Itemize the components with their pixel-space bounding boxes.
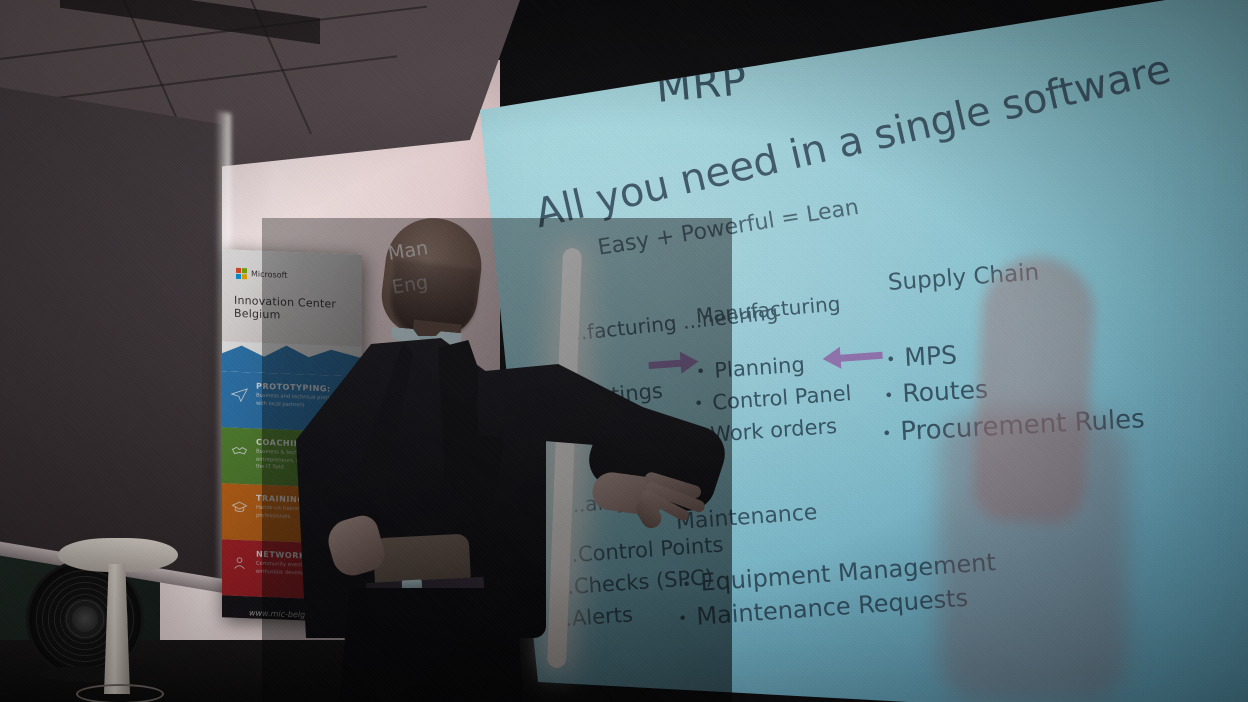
- section-bullet-mps: •MPS: [885, 340, 957, 373]
- handshake-icon: [231, 444, 248, 459]
- stool-leg: [104, 564, 130, 694]
- photo-scene: MRP All you need in a single software Ea…: [0, 0, 1248, 702]
- window-blind: [0, 86, 222, 593]
- paper-plane-icon: [231, 388, 248, 403]
- bullet-label: MPS: [904, 340, 958, 372]
- stool-base-ring: [76, 684, 164, 702]
- graduation-cap-icon: [231, 500, 248, 515]
- bullet-glyph: •: [882, 424, 892, 443]
- bullet-label: Control Panel: [712, 381, 853, 415]
- presenter-trousers: [334, 588, 524, 702]
- section-bullet-routes: •Routes: [883, 375, 988, 409]
- presenter: Man Eng: [262, 218, 732, 702]
- bullet-glyph: •: [886, 350, 896, 369]
- hand-palm: [323, 512, 388, 580]
- presenter-left-hand: [330, 518, 382, 574]
- microsoft-logo-icon: [236, 268, 247, 279]
- bullet-glyph: •: [884, 386, 894, 405]
- people-icon: [231, 556, 248, 571]
- arrow-left-icon: [822, 346, 884, 350]
- bullet-label: Routes: [902, 375, 989, 408]
- ceiling-vent: [60, 0, 320, 44]
- presenter-body-shadow: [938, 412, 1128, 702]
- bar-stool: [58, 538, 178, 702]
